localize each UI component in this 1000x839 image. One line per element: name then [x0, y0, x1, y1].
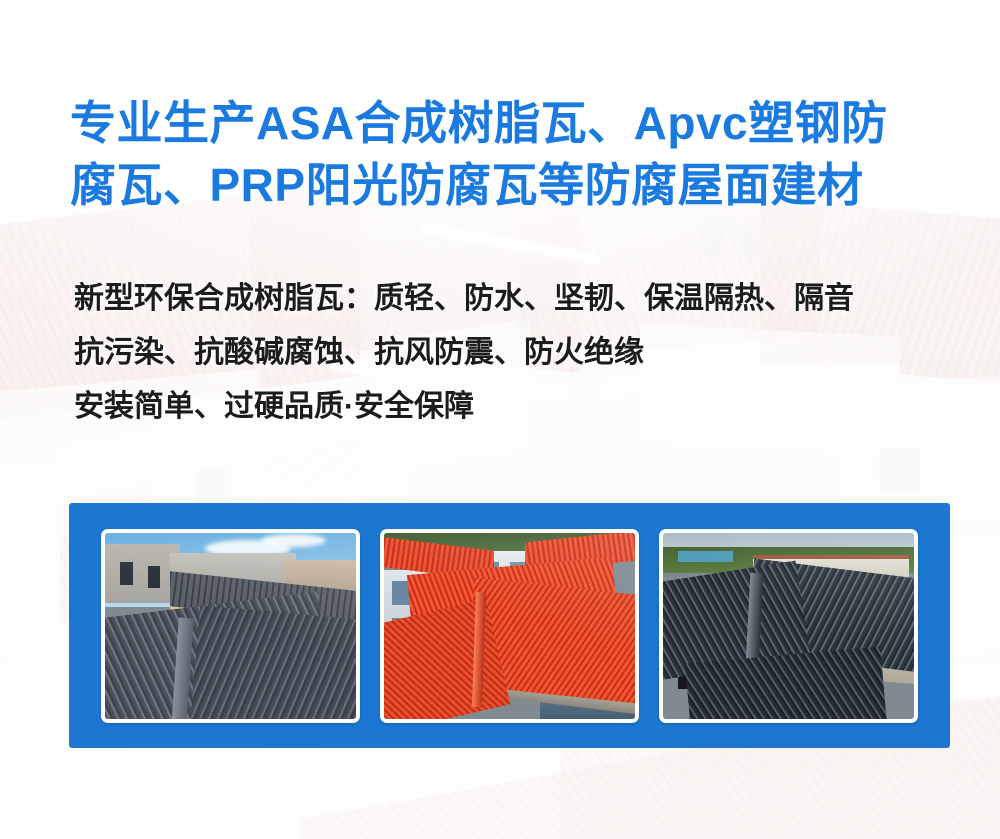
banner-headline: 专业生产ASA合成树脂瓦、Apvc塑钢防 腐瓦、PRP阳光防腐瓦等防腐屋面建材 [70, 92, 950, 216]
grey-roof-image [105, 533, 356, 719]
feature-line-2: 抗污染、抗酸碱腐蚀、抗风防震、防火绝缘 [74, 326, 974, 380]
banner-feature-list: 新型环保合成树脂瓦：质轻、防水、坚韧、保温隔热、隔音 抗污染、抗酸碱腐蚀、抗风防… [74, 272, 974, 434]
headline-line-1: 专业生产ASA合成树脂瓦、Apvc塑钢防 [70, 92, 950, 154]
red-roof-image [384, 533, 635, 719]
black-resin-tile-roof-photo[interactable] [659, 529, 918, 723]
headline-line-2: 腐瓦、PRP阳光防腐瓦等防腐屋面建材 [70, 154, 950, 216]
feature-line-1: 新型环保合成树脂瓦：质轻、防水、坚韧、保温隔热、隔音 [74, 272, 974, 326]
photo-gallery-panel [69, 503, 950, 748]
black-roof-image [663, 533, 914, 719]
product-banner: 专业生产ASA合成树脂瓦、Apvc塑钢防 腐瓦、PRP阳光防腐瓦等防腐屋面建材 … [0, 0, 1000, 839]
feature-line-3: 安装简单、过硬品质·安全保障 [74, 380, 974, 434]
grey-resin-tile-roof-photo[interactable] [101, 529, 360, 723]
red-resin-tile-roof-photo[interactable] [380, 529, 639, 723]
